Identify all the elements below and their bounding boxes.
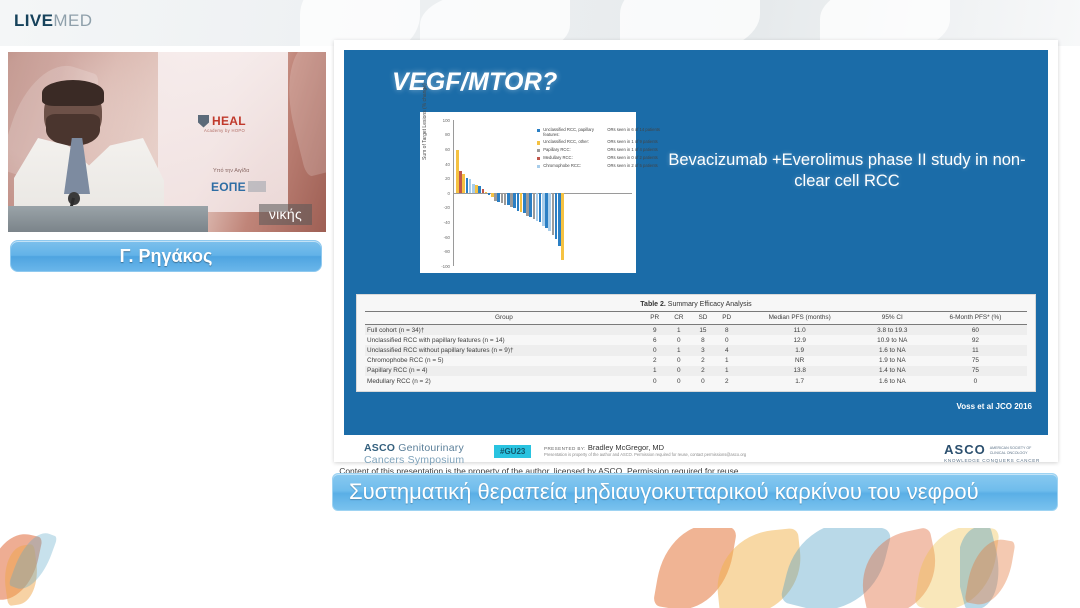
sponsor-footer-bar: Η Αξία της Διεπιστημονικής Αντιμετώπισης… xyxy=(0,528,1080,608)
chart-y-tick: 20 xyxy=(430,176,450,181)
asco-gu-line1: ASCO Genitourinary xyxy=(364,442,464,454)
table-cell: 2 xyxy=(691,366,715,376)
speaker-video[interactable]: HEAL Academy by HOPO Υπό την Αιγίδα ΕΟΠΕ… xyxy=(8,52,326,232)
table-column-header: Median PFS (months) xyxy=(739,312,861,325)
asco-main-logo: ASCO AMERICAN SOCIETY OF CLINICAL ONCOLO… xyxy=(944,442,1040,463)
table-cell: 3 xyxy=(691,345,715,355)
decorative-art-left xyxy=(0,528,60,608)
table-cell: 1.9 to NA xyxy=(861,356,924,366)
table-column-header: PR xyxy=(643,312,667,325)
table-cell: 8 xyxy=(715,325,739,336)
table-column-header: 6-Month PFS* (%) xyxy=(924,312,1027,325)
table-cell: 6 xyxy=(643,335,667,345)
slide-body: VEGF/MTOR? Sum of Target Lesions (% chan… xyxy=(344,50,1048,435)
asco-gu-line2: Cancers Symposium xyxy=(364,454,464,466)
legend-value: ORs seen in 1 of 4 patients xyxy=(607,148,658,153)
chart-legend-item: Chromophobe RCC:ORs seen in 2 of 5 patie… xyxy=(537,164,665,169)
gu-word: Genitourinary xyxy=(395,442,464,454)
presenter-block: PRESENTED BY: Bradley McGregor, MD Prese… xyxy=(544,443,746,457)
slide-headline: Bevacizumab +Everolimus phase II study i… xyxy=(656,150,1038,192)
legend-swatch xyxy=(537,141,540,144)
table-body: Full cohort (n = 34)†9115811.03.8 to 19.… xyxy=(365,325,1027,387)
table-column-header: Group xyxy=(365,312,643,325)
table-cell: 1 xyxy=(667,345,691,355)
table-column-header: 95% CI xyxy=(861,312,924,325)
decorative-art-right xyxy=(960,528,1020,608)
asco-main-word: ASCO xyxy=(944,442,986,457)
asco-main-logo-row: ASCO AMERICAN SOCIETY OF CLINICAL ONCOLO… xyxy=(944,442,1040,457)
screen-root: LIVEMED HEAL Academy by HOPO Υπό την Αιγ… xyxy=(0,0,1080,608)
asco-tagline: KNOWLEDGE CONQUERS CANCER xyxy=(944,458,1040,463)
heal-label: HEAL xyxy=(212,114,246,128)
speaker-hair xyxy=(42,80,104,106)
table-cell: 0 xyxy=(667,366,691,376)
legend-swatch xyxy=(537,129,540,132)
table-cell: Medullary RCC (n = 2) xyxy=(365,376,643,386)
chart-y-ticks: 100806040200-20-40-60-80-100 xyxy=(430,120,452,266)
asco-word: ASCO xyxy=(364,442,395,454)
video-caption: νικής xyxy=(259,204,312,225)
legend-swatch xyxy=(537,165,540,168)
legend-label: Chromophobe RCC: xyxy=(543,164,607,169)
podium xyxy=(8,206,208,232)
hashtag-badge: #GU23 xyxy=(494,445,531,458)
table-cell: 1.4 to NA xyxy=(861,366,924,376)
table-cell: 1 xyxy=(667,325,691,336)
asco-society-line2: CLINICAL ONCOLOGY xyxy=(990,451,1028,455)
table-cell: 12.9 xyxy=(739,335,861,345)
speaker-name-label: Γ. Ρηγάκος xyxy=(120,246,213,267)
legend-swatch xyxy=(537,157,540,160)
chart-legend-item: Unclassified RCC, other:ORs seen in 1 of… xyxy=(537,140,665,145)
chart-legend-item: Papillary RCC:ORs seen in 1 of 4 patient… xyxy=(537,148,665,153)
table-cell: 0 xyxy=(715,335,739,345)
livemed-logo-secondary: MED xyxy=(53,11,92,30)
table-cell: 0 xyxy=(643,376,667,386)
table-cell: Unclassified RCC without papillary featu… xyxy=(365,345,643,355)
table-cell: 4 xyxy=(715,345,739,355)
table-column-header: SD xyxy=(691,312,715,325)
table-cell: 0 xyxy=(667,335,691,345)
waterfall-chart: Sum of Target Lesions (% change) 1008060… xyxy=(420,112,636,273)
table-cell: 92 xyxy=(924,335,1027,345)
table-row: Chromophobe RCC (n = 5)2021NR1.9 to NA75 xyxy=(365,356,1027,366)
table-cell: 75 xyxy=(924,356,1027,366)
presenter-line: PRESENTED BY: Bradley McGregor, MD xyxy=(544,443,746,452)
eope-mark xyxy=(248,181,266,192)
table-cell: Full cohort (n = 34)† xyxy=(365,325,643,336)
table-cell: 0 xyxy=(924,376,1027,386)
table-cell: Chromophobe RCC (n = 5) xyxy=(365,356,643,366)
legend-value: ORs seen in 1 of 9 patients xyxy=(607,140,658,145)
legend-swatch xyxy=(537,149,540,152)
table-cell: NR xyxy=(739,356,861,366)
efficacy-table: GroupPRCRSDPDMedian PFS (months)95% CI6-… xyxy=(365,311,1027,386)
speaker-name-banner: Γ. Ρηγάκος xyxy=(10,240,322,272)
table-caption-text: Summary Efficacy Analysis xyxy=(666,301,752,308)
table-header-row: GroupPRCRSDPDMedian PFS (months)95% CI6-… xyxy=(365,312,1027,325)
table-cell: 60 xyxy=(924,325,1027,336)
legend-label: Medullary RCC: xyxy=(543,156,607,161)
legend-label: Unclassified RCC, other: xyxy=(543,140,607,145)
table-cell: Papillary RCC (n = 4) xyxy=(365,366,643,376)
table-cell: 2 xyxy=(715,376,739,386)
legend-label: Unclassified RCC, papillary features: xyxy=(543,128,607,137)
table-row: Unclassified RCC with papillary features… xyxy=(365,335,1027,345)
table-row: Unclassified RCC without papillary featu… xyxy=(365,345,1027,355)
session-title-text: Συστηματική θεραπεία μηδιαυγοκυτταρικού … xyxy=(333,479,979,505)
table-cell: 1 xyxy=(715,366,739,376)
backdrop-heal-logo: HEAL xyxy=(198,114,246,128)
asco-main-subtext: AMERICAN SOCIETY OF CLINICAL ONCOLOGY xyxy=(990,446,1032,457)
chart-bar xyxy=(561,193,564,260)
chart-y-tick: 80 xyxy=(430,132,450,137)
presenter-small-print: Presentation is property of the author a… xyxy=(544,452,746,457)
table-cell: 0 xyxy=(667,356,691,366)
table-caption: Table 2. Summary Efficacy Analysis xyxy=(365,301,1027,308)
chart-y-tick: 0 xyxy=(430,191,450,196)
aigida-label: Υπό την Αιγίδα xyxy=(213,168,249,174)
table-cell: 15 xyxy=(691,325,715,336)
session-title-banner: Συστηματική θεραπεία μηδιαυγοκυτταρικού … xyxy=(332,473,1058,511)
legend-value: ORs seen in 0 of 2 patients xyxy=(607,156,658,161)
chart-y-tick: 60 xyxy=(430,147,450,152)
heal-sublabel: Academy by HOPO xyxy=(204,128,245,133)
slide-citation: Voss et al JCO 2016 xyxy=(957,402,1032,411)
table-cell: 0 xyxy=(691,376,715,386)
chart-legend-item: Unclassified RCC, papillary features:ORs… xyxy=(537,128,665,137)
table-cell: 11 xyxy=(924,345,1027,355)
asco-society-line1: AMERICAN SOCIETY OF xyxy=(990,446,1032,450)
chart-y-axis-label: Sum of Target Lesions (% change) xyxy=(422,83,428,160)
chart-y-tick: 100 xyxy=(430,118,450,123)
chart-legend-item: Medullary RCC:ORs seen in 0 of 2 patient… xyxy=(537,156,665,161)
shield-icon xyxy=(198,115,209,128)
table-cell: 9 xyxy=(643,325,667,336)
legend-value: ORs seen in 6 of 14 patients xyxy=(607,128,660,133)
presented-by-label: PRESENTED BY: xyxy=(544,446,586,451)
table-cell: 0 xyxy=(667,376,691,386)
table-cell: 0 xyxy=(643,345,667,355)
chart-y-tick: -40 xyxy=(430,220,450,225)
asco-gu-logo: ASCO Genitourinary Cancers Symposium xyxy=(364,442,464,466)
efficacy-table-card: Table 2. Summary Efficacy Analysis Group… xyxy=(356,294,1036,392)
slide-title: VEGF/MTOR? xyxy=(392,68,557,97)
table-cell: 11.0 xyxy=(739,325,861,336)
table-cell: 1 xyxy=(643,366,667,376)
presenter-name: Bradley McGregor, MD xyxy=(588,443,664,452)
chart-y-tick: -20 xyxy=(430,205,450,210)
table-cell: 1.9 xyxy=(739,345,861,355)
chart-y-tick: 40 xyxy=(430,162,450,167)
table-cell: 3.8 to 19.3 xyxy=(861,325,924,336)
table-row: Medullary RCC (n = 2)00021.71.6 to NA0 xyxy=(365,376,1027,386)
table-cell: 2 xyxy=(691,356,715,366)
livemed-logo[interactable]: LIVEMED xyxy=(14,11,92,31)
table-cell: 1.6 to NA xyxy=(861,376,924,386)
table-cell: 10.9 to NA xyxy=(861,335,924,345)
chart-y-tick: -100 xyxy=(430,264,450,269)
table-cell: 1.7 xyxy=(739,376,861,386)
livemed-logo-primary: LIVE xyxy=(14,11,53,30)
table-cell: 13.8 xyxy=(739,366,861,376)
legend-value: ORs seen in 2 of 5 patients xyxy=(607,164,658,169)
chart-plot-area: Unclassified RCC, papillary features:ORs… xyxy=(453,120,632,266)
table-caption-label: Table 2. xyxy=(640,301,666,308)
eope-label: ΕΟΠΕ xyxy=(211,180,246,194)
table-cell: Unclassified RCC with papillary features… xyxy=(365,335,643,345)
table-row: Papillary RCC (n = 4)102113.81.4 to NA75 xyxy=(365,366,1027,376)
table-cell: 8 xyxy=(691,335,715,345)
table-column-header: CR xyxy=(667,312,691,325)
table-row: Full cohort (n = 34)†9115811.03.8 to 19.… xyxy=(365,325,1027,336)
legend-label: Papillary RCC: xyxy=(543,148,607,153)
chart-y-tick: -60 xyxy=(430,235,450,240)
chart-legend: Unclassified RCC, papillary features:ORs… xyxy=(537,128,665,172)
table-cell: 75 xyxy=(924,366,1027,376)
presentation-slide[interactable]: VEGF/MTOR? Sum of Target Lesions (% chan… xyxy=(334,40,1058,462)
table-cell: 2 xyxy=(643,356,667,366)
table-column-header: PD xyxy=(715,312,739,325)
chart-y-tick: -80 xyxy=(430,249,450,254)
table-cell: 1.6 to NA xyxy=(861,345,924,355)
table-cell: 1 xyxy=(715,356,739,366)
